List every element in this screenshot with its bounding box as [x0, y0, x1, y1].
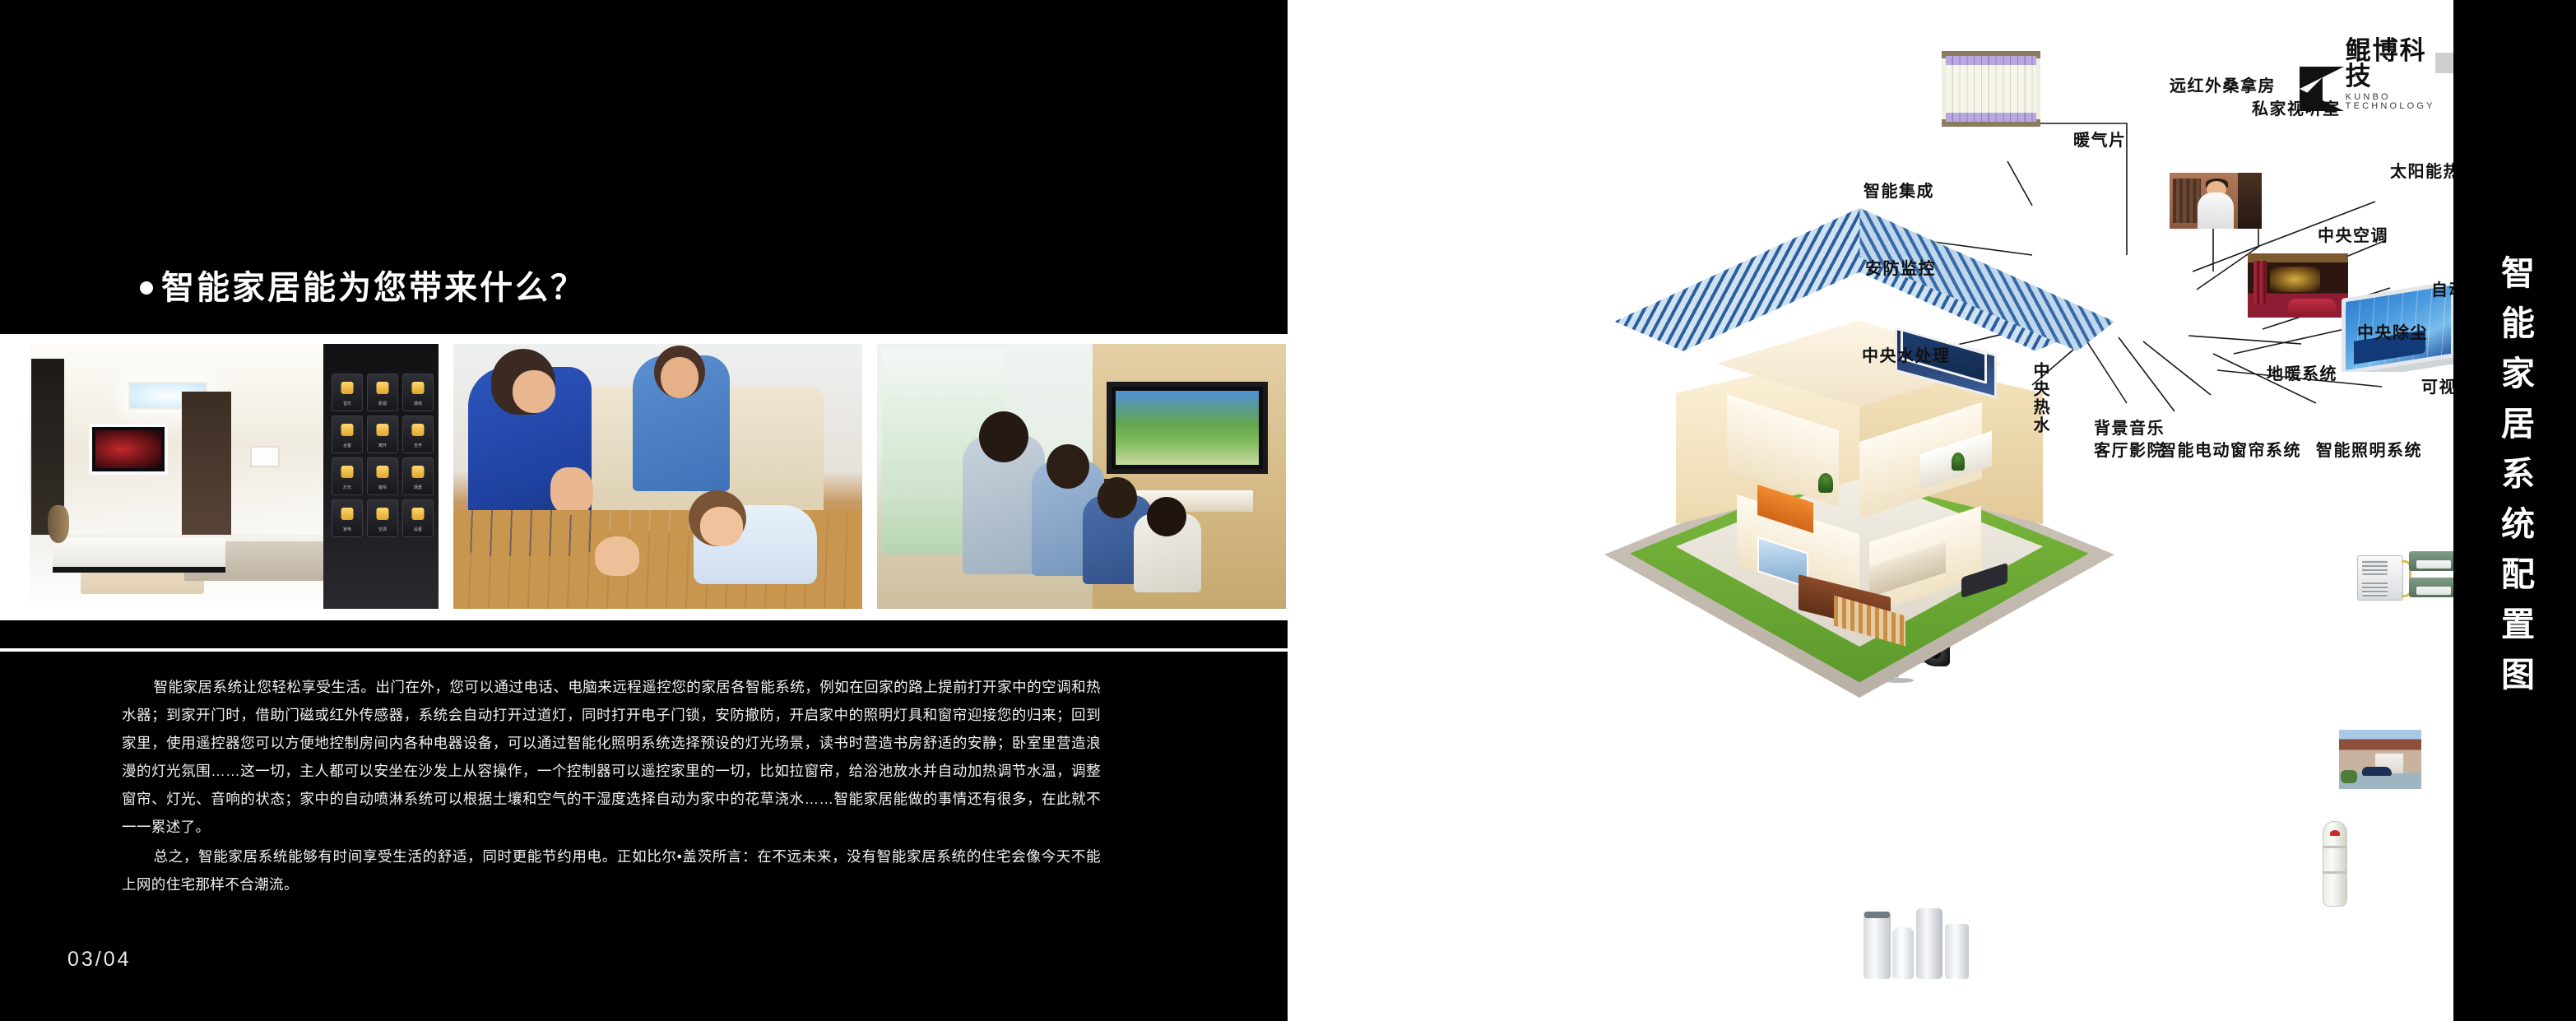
thumb-central-ac	[2357, 540, 2458, 612]
left-page: 智能家居能为您带来什么？ 音乐影视游戏 台客离开全开 灯光窗帘场景 家电空	[0, 0, 1288, 1021]
thumb-home-theater	[2248, 253, 2348, 318]
logo-name-en: KUNBO TECHNOLOGY	[2346, 93, 2453, 111]
diagram-label-sauna: 远红外桑拿房	[2170, 76, 2276, 98]
kunbo-k-mark-icon	[2300, 67, 2334, 111]
divider-white-rule	[0, 648, 1288, 652]
right-black-column: 智能家居系统配置图	[2453, 0, 2576, 1021]
diagram-label-bg-music-line1: 背景音乐	[2094, 418, 2165, 440]
thumb-garage-door	[2339, 730, 2421, 789]
page-title: 智能家居能为您带来什么？	[140, 261, 586, 309]
diagram-label-central-hotwater: 中央热水	[2028, 362, 2050, 434]
diagram-label-radiator: 暖气片	[2073, 130, 2127, 152]
photo-band: 音乐影视游戏 台客离开全开 灯光窗帘场景 家电空调设置	[0, 334, 1288, 620]
photo-row: 音乐影视游戏 台客离开全开 灯光窗帘场景 家电空调设置	[30, 344, 1286, 609]
diagram-label-security: 安防监控	[1865, 258, 1936, 281]
bullet-icon	[140, 281, 153, 295]
divider-black-band	[0, 620, 1288, 648]
page-title-text: 智能家居能为您带来什么？	[161, 270, 586, 306]
thumb-central-vacuum	[2316, 818, 2354, 910]
brochure-spread: 智能家居能为您带来什么？ 音乐影视游戏 台客离开全开 灯光窗帘场景 家电空	[0, 0, 2576, 1021]
thumb-water-treatment	[1864, 902, 1969, 981]
right-page: 暖气片 远红外桑拿房 私家视听室 太阳能热水 智能集成 中央空调 安防监控 自动…	[1288, 0, 2453, 1021]
wall-control-panel: 音乐影视游戏 台客离开全开 灯光窗帘场景 家电空调设置	[323, 344, 439, 609]
body-paragraph-1: 智能家居系统让您轻松享受生活。出门在外，您可以通过电话、电脑来远程遥控您的家居各…	[122, 673, 1101, 841]
diagram-label-floor-heating: 地暖系统	[2267, 364, 2337, 386]
diagram-label-smart-lighting: 智能照明系统	[2316, 440, 2422, 462]
body-paragraph-2: 总之，智能家居系统能够有时间享受生活的舒适，同时更能节约用电。正如比尔•盖茨所言…	[122, 842, 1101, 898]
diagram-label-water-treatment: 中央水处理	[1862, 346, 1951, 368]
diagram-label-smart-panel: 智能集成	[1864, 181, 1934, 203]
diagram-label-smart-curtain: 智能电动窗帘系统	[2160, 440, 2301, 462]
diagram-label-bg-music-line2: 客厅影院	[2094, 440, 2165, 462]
body-copy: 智能家居系统让您轻松享受生活。出门在外，您可以通过电话、电脑来远程遥控您的家居各…	[122, 673, 1101, 900]
diagram-label-central-vacuum: 中央除尘	[2357, 323, 2428, 345]
photo-family-watching-tv	[877, 344, 1286, 609]
thumb-radiator	[1942, 51, 2040, 127]
cutaway-house-illustration	[1604, 188, 2114, 698]
vertical-section-title: 智能家居系统配置图	[2490, 255, 2540, 707]
diagram-label-central-ac: 中央空调	[2318, 225, 2388, 248]
page-number: 03/04	[67, 948, 132, 972]
thumb-sauna-room	[2170, 173, 2262, 229]
brand-logo: 鲲博科技 KUNBO TECHNOLOGY	[2300, 38, 2453, 111]
photo-living-room-smart-panel: 音乐影视游戏 台客离开全开 灯光窗帘场景 家电空调设置	[30, 344, 439, 609]
photo-family-with-baby	[453, 344, 862, 609]
